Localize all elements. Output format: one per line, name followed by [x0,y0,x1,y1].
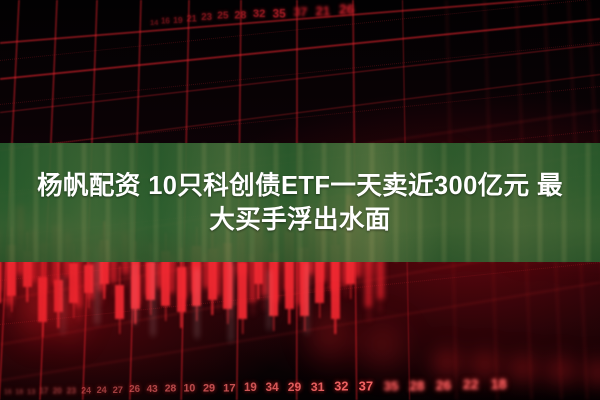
axis-label-bottom: 28 [409,378,424,393]
axis-label-bottom: 22 [463,377,479,393]
stock-screen-image: 141619212325283235372126 161813172023242… [0,0,600,400]
axis-label-top: 28 [234,9,246,21]
axis-label-bottom: 10 [183,383,195,395]
axis-label-bottom: 26 [129,384,140,395]
axis-label-top: 21 [187,14,197,24]
axis-label-bottom: 18 [15,387,23,396]
axis-label-bottom: 37 [359,379,373,394]
headline-line-2: 大买手浮出水面 [209,205,390,235]
axis-label-bottom: 32 [334,380,348,394]
axis-label-top: 16 [161,17,170,26]
axis-label-bottom: 24 [97,385,107,395]
axis-label-top: 32 [253,8,266,20]
axis-label-top: 23 [201,12,212,23]
axis-label-bottom: 28 [165,384,176,395]
axis-label-bottom: 35 [384,379,399,394]
axis-label-bottom: 13 [27,387,35,396]
headline-text: 杨帆配资 10只科创债ETF一天卖近300亿元 最 大买手浮出水面 [0,143,600,262]
axis-label-top: 37 [293,5,307,19]
axis-label-top: 26 [339,2,354,17]
axis-label-bottom: 29 [203,382,215,394]
axis-label-top: 21 [316,4,330,19]
axis-label-top: 35 [273,6,286,20]
axis-label-bottom: 16 [4,389,12,396]
axis-label-bottom: 29 [288,380,301,394]
bottom-axis-labels: 1618131720232424272643281029171934293132… [0,380,600,396]
axis-label-bottom: 19 [244,382,257,394]
axis-label-bottom: 26 [436,377,451,393]
axis-label-bottom: 17 [40,387,49,396]
axis-label-top: 19 [173,15,183,25]
axis-label-bottom: 20 [53,387,62,396]
top-axis-labels: 141619212325283235372126 [0,2,600,17]
axis-label-bottom: 43 [147,384,158,395]
axis-label-bottom: 27 [113,384,123,395]
axis-label-bottom: 24 [81,385,91,395]
axis-label-bottom: 18 [491,377,507,393]
axis-label-bottom: 31 [311,380,325,394]
axis-label-bottom: 34 [266,380,279,394]
axis-label-top: 25 [217,11,228,22]
axis-label-bottom: 17 [223,382,235,394]
axis-label-bottom: 23 [67,385,76,395]
headline-line-1: 杨帆配资 10只科创债ETF一天卖近300亿元 最 [37,171,563,201]
axis-label-top: 14 [150,18,158,27]
